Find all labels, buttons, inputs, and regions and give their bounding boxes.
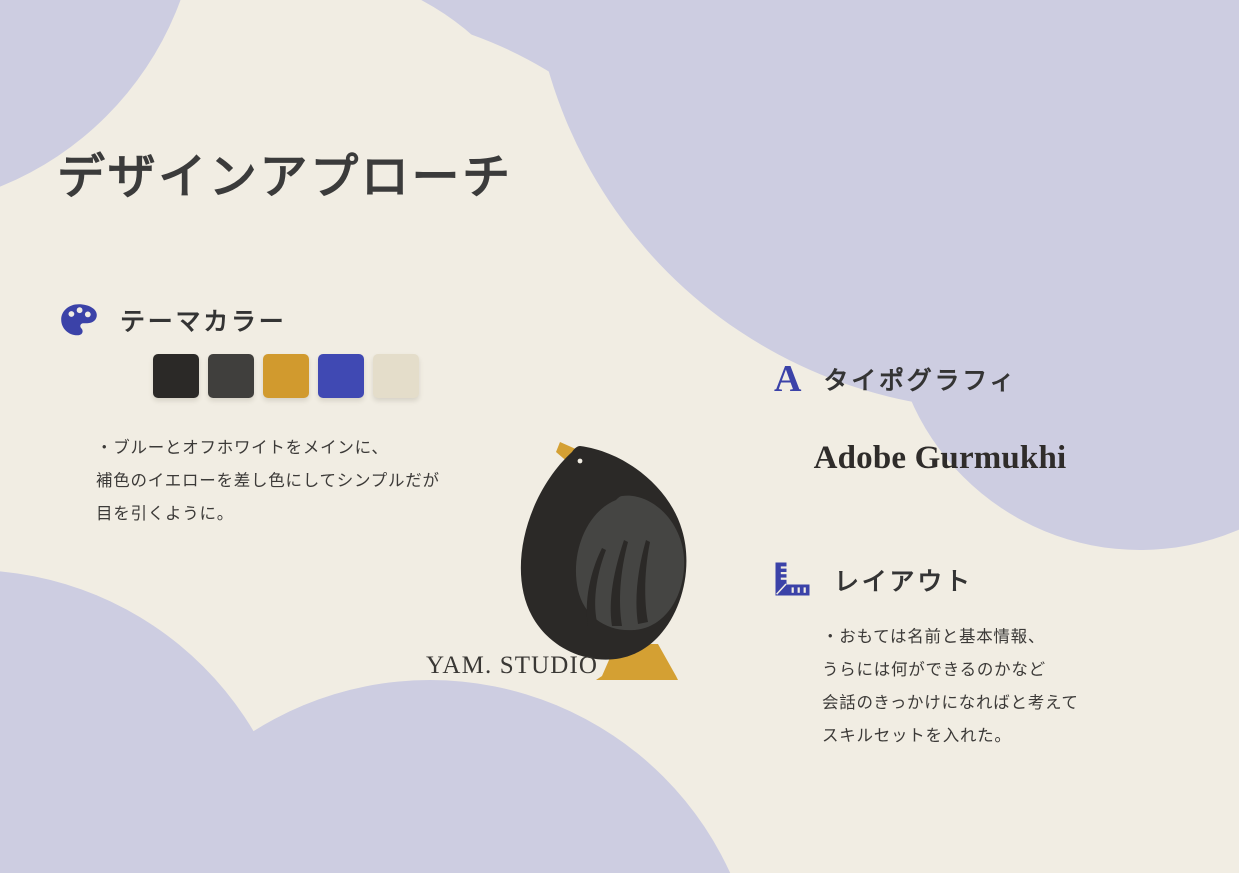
section-heading-theme-color: テーマカラー (60, 302, 287, 338)
bird-foot-toe (596, 676, 678, 680)
color-swatch-charcoal-black[interactable] (153, 354, 199, 398)
body-text-layout: ・おもては名前と基本情報、 うらには何ができるのかなど 会話のきっかけになればと… (822, 621, 1152, 753)
logo-wordmark: YAM. STUDIO (426, 652, 598, 680)
letter-a-icon: A (774, 360, 801, 398)
section-label-layout: レイアウト (834, 562, 973, 598)
section-label-typography: タイポグラフィ (823, 361, 1017, 397)
color-swatch-gold-yellow[interactable] (263, 354, 309, 398)
section-heading-typography: A タイポグラフィ (774, 360, 1017, 398)
section-heading-layout: レイアウト (772, 561, 973, 599)
color-swatch-row (153, 354, 419, 398)
font-sample-text: Adobe Gurmukhi (790, 440, 1090, 477)
section-label-theme-color: テーマカラー (120, 302, 287, 338)
color-swatch-indigo-blue[interactable] (318, 354, 364, 398)
bird-eye (578, 459, 583, 464)
bird-logo-mark (420, 430, 710, 690)
page-title: デザインアプローチ (57, 152, 513, 205)
palette-icon (60, 303, 98, 337)
slide-content: デザインアプローチ テーマカラー ・ブルーとオフホワイトをメインに、 補色のイエ… (0, 0, 1239, 873)
ruler-icon (772, 561, 812, 599)
color-swatch-dark-gray[interactable] (208, 354, 254, 398)
color-swatch-cream-offwhite[interactable] (373, 354, 419, 398)
brand-logo: YAM. STUDIO (420, 430, 710, 690)
slide-canvas: デザインアプローチ テーマカラー ・ブルーとオフホワイトをメインに、 補色のイエ… (0, 0, 1239, 873)
